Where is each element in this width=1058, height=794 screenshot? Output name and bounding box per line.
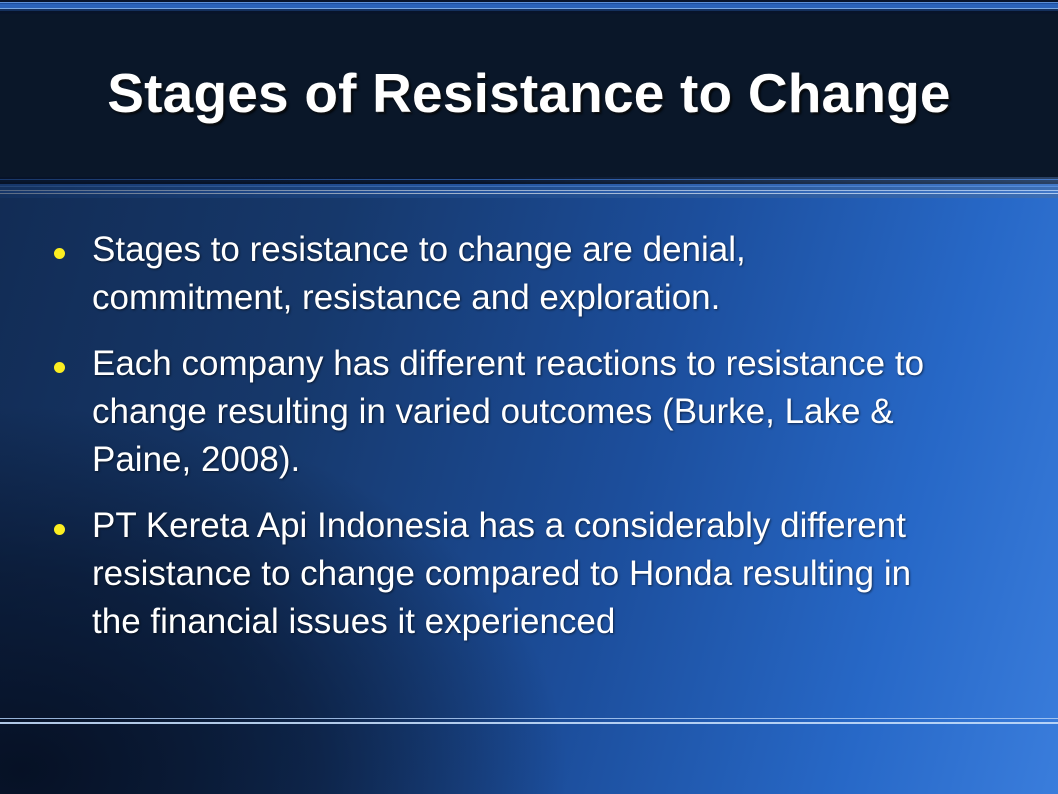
slide-header: Stages of Resistance to Change (0, 14, 1058, 177)
header-divider-stripe (0, 177, 1058, 198)
slide-title: Stages of Resistance to Change (107, 61, 950, 131)
list-item-text: PT Kereta Api Indonesia has a considerab… (92, 502, 954, 646)
bullet-list: Stages to resistance to change are denia… (54, 226, 954, 646)
list-item-text: Each company has different reactions to … (92, 340, 954, 484)
presentation-slide: Stages of Resistance to Change Stages to… (0, 0, 1058, 794)
footer-divider-stripe (0, 716, 1058, 727)
bullet-dot-icon (54, 248, 65, 259)
list-item: Each company has different reactions to … (54, 340, 954, 484)
list-item: PT Kereta Api Indonesia has a considerab… (54, 502, 954, 646)
list-item: Stages to resistance to change are denia… (54, 226, 954, 322)
bullet-dot-icon (54, 524, 65, 535)
bullet-dot-icon (54, 362, 65, 373)
list-item-text: Stages to resistance to change are denia… (92, 226, 954, 322)
top-decorative-stripe (0, 0, 1058, 14)
